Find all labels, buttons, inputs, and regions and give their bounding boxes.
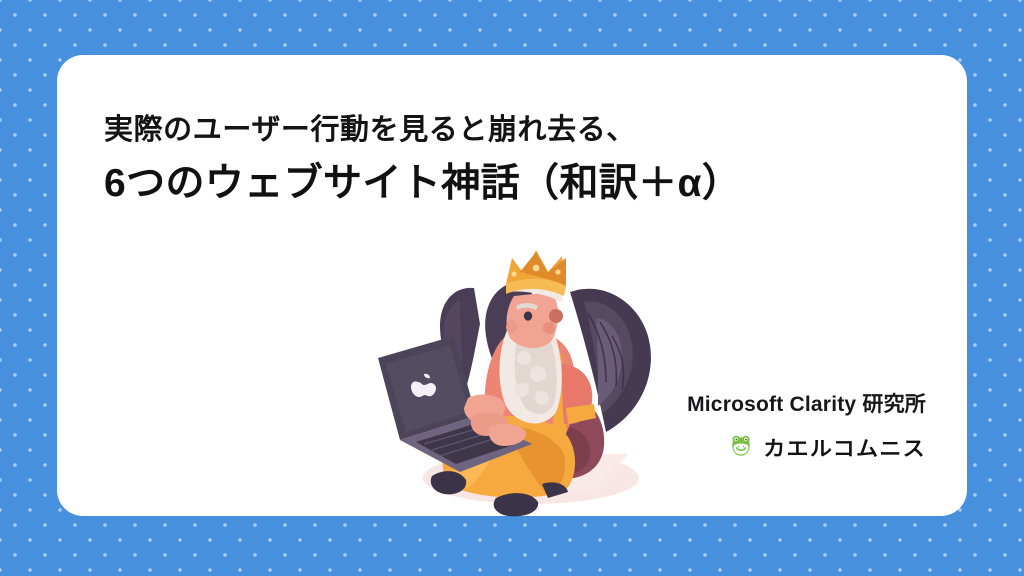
- credit-block: Microsoft Clarity 研究所: [687, 388, 926, 463]
- frog-icon: [727, 433, 755, 461]
- headline-line-2: 6つのウェブサイト神話（和訳＋α）: [104, 159, 904, 210]
- slide-canvas: 実際のユーザー行動を見ると崩れ去る、 6つのウェブサイト神話（和訳＋α）: [0, 0, 1024, 576]
- zeus-king-with-laptop-illustration: [356, 240, 676, 520]
- brand-name: カエルコムニス: [763, 432, 926, 461]
- brand-logo: カエルコムニス: [687, 431, 926, 463]
- headline-line-1: 実際のユーザー行動を見ると崩れ去る、: [104, 112, 904, 148]
- headline: 実際のユーザー行動を見ると崩れ去る、 6つのウェブサイト神話（和訳＋α）: [104, 112, 904, 210]
- credit-title: Microsoft Clarity 研究所: [687, 388, 926, 418]
